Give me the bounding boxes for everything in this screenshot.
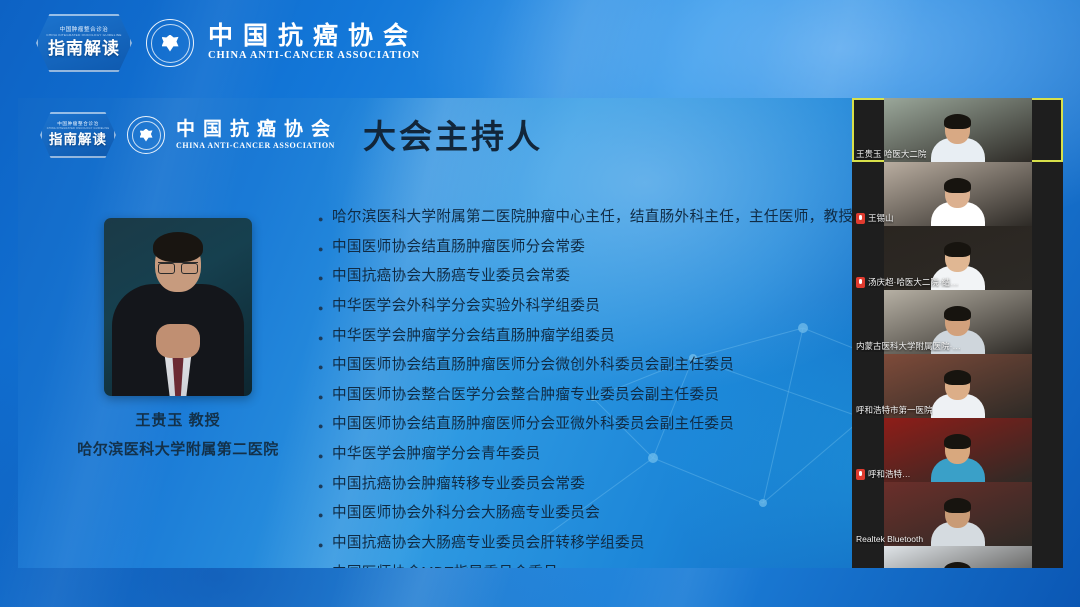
bullet-text: 中华医学会肿瘤学分会青年委员 — [332, 443, 541, 467]
mic-muted-icon — [856, 213, 865, 224]
slide-title: 大会主持人 — [363, 120, 543, 153]
meeting-screen: 中国肿瘤整合诊治 CHINA INTEGRATED ONCOLOGY GUIDE… — [0, 0, 1080, 607]
participant-label: 内蒙古医科大学附属医院·… — [856, 340, 961, 352]
participant-avatar — [931, 372, 985, 418]
participant-video — [884, 162, 1032, 226]
guideline-badge-icon: 中国肿瘤整合诊治 CHINA INTEGRATED ONCOLOGY GUIDE… — [36, 14, 132, 72]
speaker-organization: 哈尔滨医科大学附属第二医院 — [58, 438, 298, 459]
participant-name: 呼和浩特市第一医院 — [856, 404, 933, 416]
bullet-text: 中国抗癌协会大肠癌专业委员会常委 — [332, 265, 570, 289]
participant-tile[interactable]: 许云峰 呼市第一医院 — [852, 546, 1063, 568]
bullet-dot-icon: ● — [318, 265, 332, 283]
participant-name: 呼和浩特… — [868, 468, 911, 480]
participant-avatar — [931, 500, 985, 546]
participant-tile[interactable]: 汤庆超·哈医大二院·结… — [852, 226, 1063, 290]
bullet-text: 中国医师协会结直肠肿瘤医师分会微创外科委员会副主任委员 — [332, 354, 734, 378]
bullet-dot-icon: ● — [318, 354, 332, 372]
badge-small-sub: CHINA INTEGRATED ONCOLOGY GUIDELINE — [46, 34, 121, 37]
participant-tile[interactable]: 王贵玉 哈医大二院 — [852, 98, 1063, 162]
bullet-text: 中国医师协会外科分会大肠癌专业委员会 — [332, 502, 600, 526]
bullet-dot-icon: ● — [318, 532, 332, 550]
bullet-text: 中国医师协会结直肠肿瘤医师分会常委 — [332, 236, 585, 260]
bullet-dot-icon: ● — [318, 295, 332, 313]
participant-name: Realtek Bluetooth — [856, 534, 923, 544]
bullet-dot-icon: ● — [318, 443, 332, 461]
banner-org-cn: 中国抗癌协会 — [208, 23, 420, 51]
bullet-dot-icon: ● — [318, 562, 332, 568]
bullet-text: 中国医师协会结直肠肿瘤医师分会亚微外科委员会副主任委员 — [332, 413, 734, 437]
participant-avatar — [931, 564, 985, 568]
participant-name: 汤庆超·哈医大二院·结… — [868, 276, 959, 288]
slide-org-en: CHINA ANTI-CANCER ASSOCIATION — [176, 141, 338, 151]
participant-name: 王贵玉 哈医大二院 — [856, 148, 926, 160]
speaker-name: 王贵玉 教授 — [58, 409, 298, 430]
participant-tile[interactable]: 呼和浩特… — [852, 418, 1063, 482]
participant-tile[interactable]: 王锡山 — [852, 162, 1063, 226]
participant-label: 呼和浩特市第一医院 — [856, 404, 933, 416]
participant-video-panel[interactable]: 王贵玉 哈医大二院王锡山汤庆超·哈医大二院·结…内蒙古医科大学附属医院·…呼和浩… — [852, 98, 1063, 568]
participant-name: 王锡山 — [868, 212, 894, 224]
slide-guideline-badge-icon: 中国肿瘤整合诊治 CHINA INTEGRATED ONCOLOGY GUIDE… — [40, 112, 116, 158]
participant-label: Realtek Bluetooth — [856, 534, 923, 544]
badge-main-text: 指南解读 — [48, 40, 120, 59]
top-banner: 中国肿瘤整合诊治 CHINA INTEGRATED ONCOLOGY GUIDE… — [0, 0, 1080, 90]
participant-avatar — [931, 116, 985, 162]
speaker-photo — [104, 218, 252, 396]
bullet-text: 中国医师协会MDT指导委员会委员 — [332, 562, 558, 568]
participant-tile[interactable]: 呼和浩特市第一医院 — [852, 354, 1063, 418]
bullet-text: 中华医学会肿瘤学分会结直肠肿瘤学组委员 — [332, 325, 615, 349]
participant-avatar — [931, 180, 985, 226]
participant-name: 内蒙古医科大学附属医院·… — [856, 340, 961, 352]
bullet-text: 中国医师协会整合医学分会整合肿瘤专业委员会副主任委员 — [332, 384, 719, 408]
slide-header: 中国肿瘤整合诊治 CHINA INTEGRATED ONCOLOGY GUIDE… — [40, 112, 338, 158]
slide-org-cn: 中国抗癌协会 — [176, 120, 338, 141]
participant-avatar — [931, 436, 985, 482]
bullet-text: 中华医学会外科学分会实验外科学组委员 — [332, 295, 600, 319]
bullet-text: 中国抗癌协会大肠癌专业委员会肝转移学组委员 — [332, 532, 645, 556]
participant-label: 王贵玉 哈医大二院 — [856, 148, 926, 160]
bullet-dot-icon: ● — [318, 473, 332, 491]
caca-seal-icon — [146, 19, 194, 67]
participant-label: 王锡山 — [856, 212, 894, 224]
mic-muted-icon — [856, 469, 865, 480]
participant-tile[interactable]: 内蒙古医科大学附属医院·… — [852, 290, 1063, 354]
banner-org-en: CHINA ANTI-CANCER ASSOCIATION — [208, 50, 420, 63]
slide-badge-small-sub: CHINA INTEGRATED ONCOLOGY GUIDELINE — [47, 128, 110, 130]
participant-label: 呼和浩特… — [856, 468, 911, 480]
bullet-dot-icon: ● — [318, 384, 332, 402]
slide-caca-seal-icon — [127, 116, 165, 154]
slide-badge-main-text: 指南解读 — [49, 133, 107, 148]
bullet-dot-icon: ● — [318, 502, 332, 520]
bullet-dot-icon: ● — [318, 325, 332, 343]
participant-video — [884, 546, 1032, 568]
mic-muted-icon — [856, 277, 865, 288]
speaker-card: 王贵玉 教授 哈尔滨医科大学附属第二医院 — [58, 218, 298, 459]
bullet-dot-icon: ● — [318, 206, 332, 224]
bullet-text: 中国抗癌协会肿瘤转移专业委员会常委 — [332, 473, 585, 497]
bullet-dot-icon: ● — [318, 236, 332, 254]
participant-label: 汤庆超·哈医大二院·结… — [856, 276, 959, 288]
participant-tile[interactable]: Realtek Bluetooth — [852, 482, 1063, 546]
bullet-dot-icon: ● — [318, 413, 332, 431]
